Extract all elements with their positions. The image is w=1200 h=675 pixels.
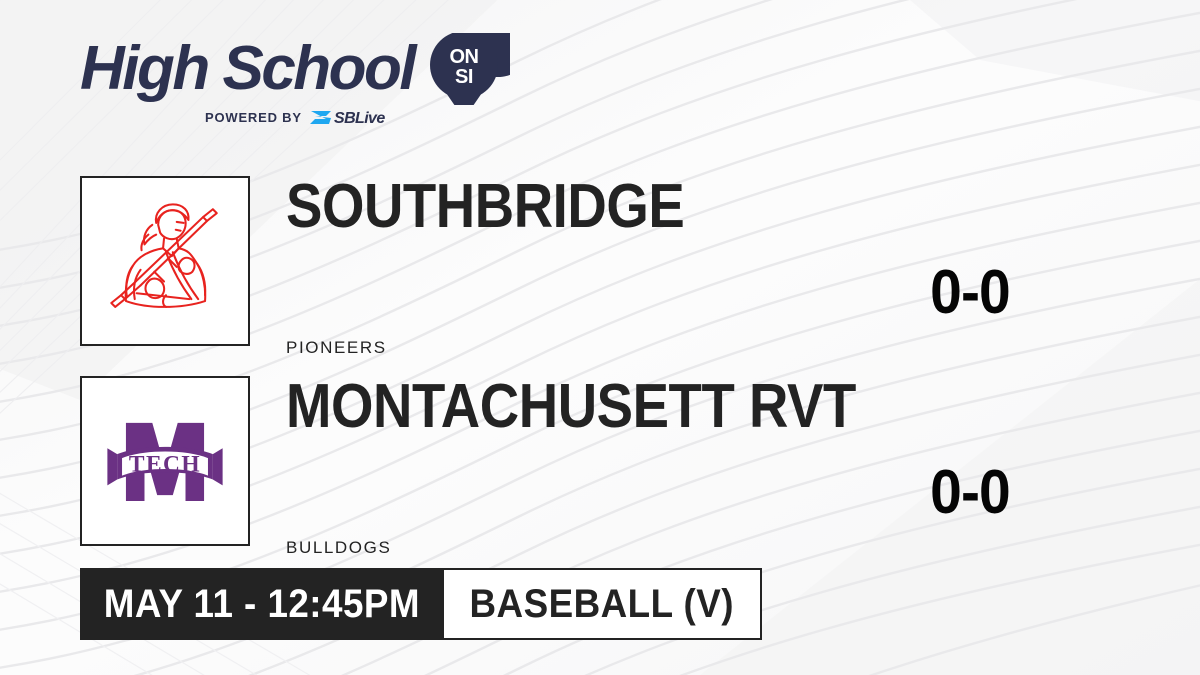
powered-by-label: POWERED BY [205,111,302,124]
team-record-1: 0-0 [850,262,1089,324]
team-mascot-2: BULLDOGS [286,539,391,556]
matchup-graphic: High School ON SI POWERED BY SBLive [0,0,1200,675]
pin-badge-bottom-text: SI [455,66,473,88]
game-sport: BASEBALL (V) [444,568,762,640]
game-datetime-text: MAY 11 - 12:45PM [104,582,420,627]
pioneer-rifleman-icon [82,178,248,344]
wordmark-text: High School [80,34,418,103]
high-school-on-si-wordmark: High School ON SI [80,33,510,105]
team-record-2: 0-0 [850,462,1089,524]
team-name-2: MONTACHUSETT RVT [286,376,856,438]
on-si-pin-icon: ON SI [430,33,510,105]
powered-by-row: POWERED BY SBLive [205,106,412,128]
team-name-1: SOUTHBRIDGE [286,176,684,238]
team-logo-box-2: TECH [80,376,250,546]
team-logo-box-1 [80,176,250,346]
m-tech-monogram-icon: TECH [82,378,248,544]
team-mascot-1: PIONEERS [286,339,387,356]
game-info-bar: MAY 11 - 12:45PM BASEBALL (V) [80,568,762,640]
game-datetime: MAY 11 - 12:45PM [80,568,444,640]
sblive-logo: SBLive [309,108,412,127]
game-sport-text: BASEBALL (V) [470,582,734,627]
sblive-wordmark-text: SBLive [334,110,385,127]
brand-logo: High School ON SI POWERED BY SBLive [80,33,510,133]
tech-banner-text: TECH [129,452,201,478]
pin-badge-top-text: ON [450,46,479,68]
